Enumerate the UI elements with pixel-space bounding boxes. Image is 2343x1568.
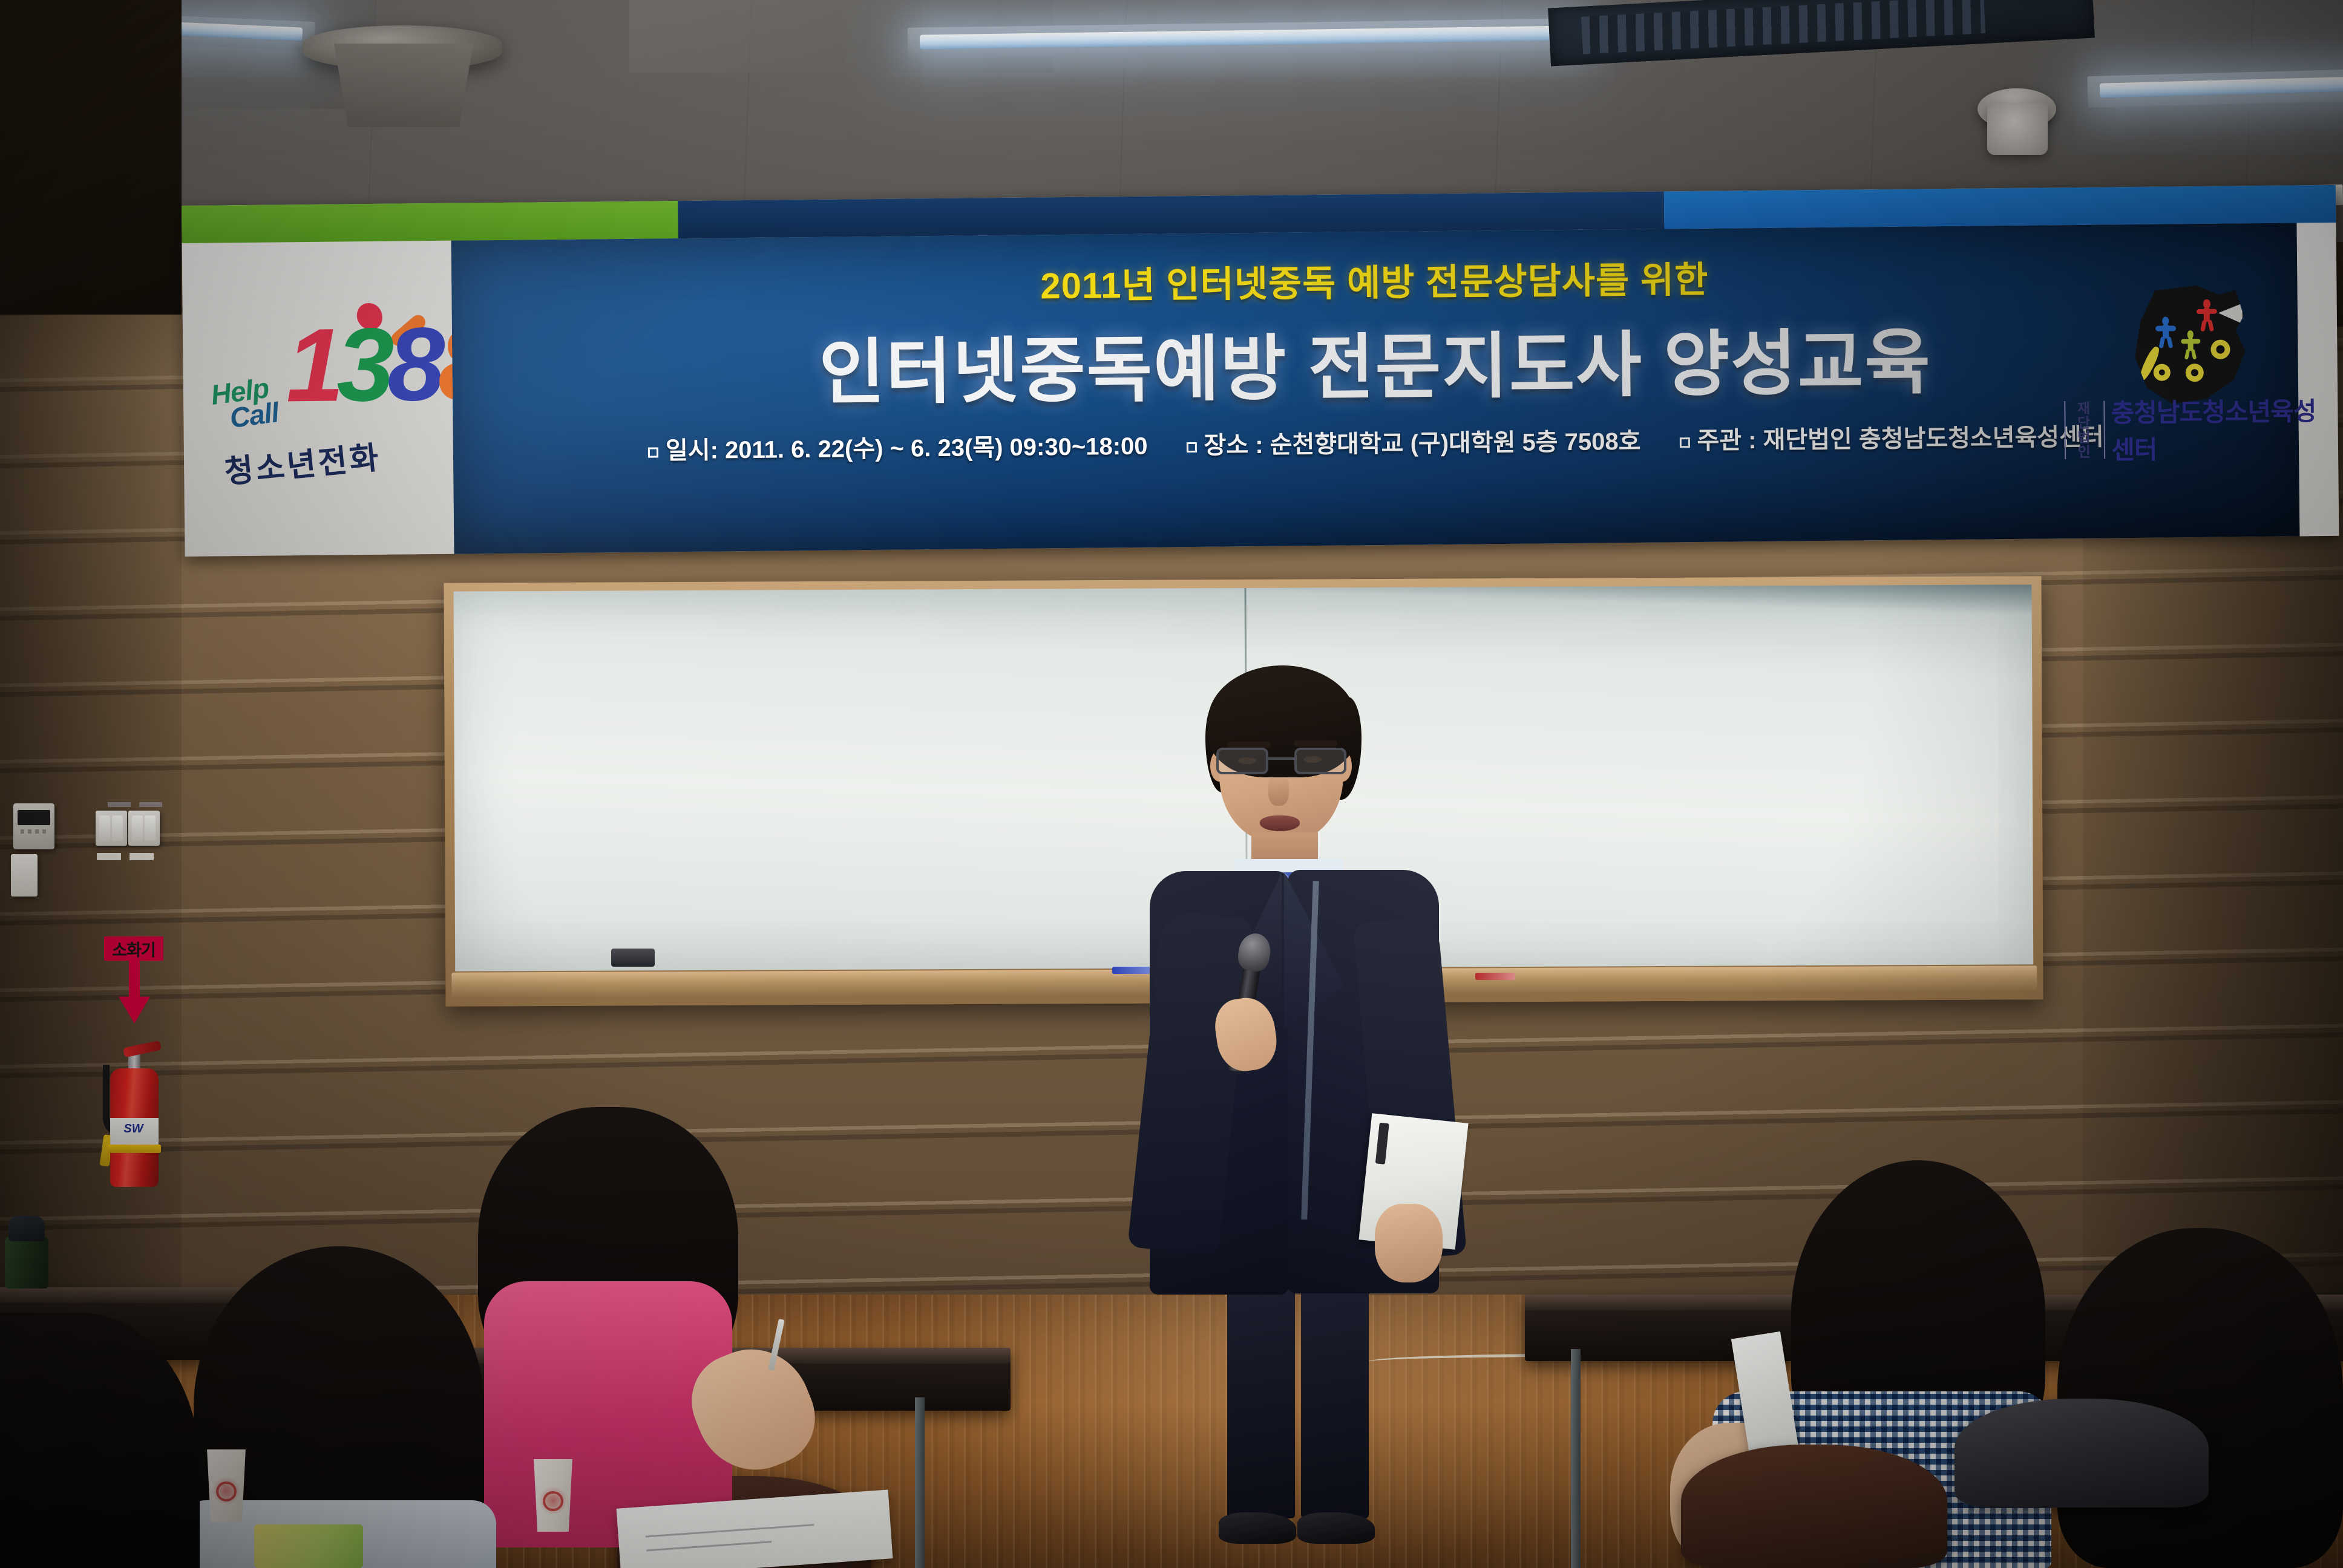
bullet-icon-venue [1186,442,1196,452]
light-switch-label-left [97,853,121,860]
emblem-figure-blue [2155,316,2176,348]
logo-helpcall-text: Help Call [209,374,280,433]
fire-extinguisher-icon[interactable]: SW [102,1033,166,1187]
banner-detail-organizer: 주관 : 재단법인 충청남도청소년육성센터 [1679,417,2104,457]
logo-digit-1: 1 [286,307,338,424]
emblem-ring-3 [2154,364,2171,381]
chungnam-map-emblem-icon [2129,285,2246,404]
attendee-far-right-hair [2057,1228,2343,1568]
light-switch-tag-right [139,802,162,807]
thermostat-display [18,810,50,826]
glasses-icon [1216,748,1346,776]
attendee-far-right [2057,1228,2343,1568]
logo-korean-text: 청소년전화 [222,432,382,492]
smoke-detector-body [1987,103,2048,155]
organizer-prefix: 재 단 법 인 [2064,400,2105,459]
chair-far-right[interactable] [1955,1399,2209,1508]
presenter-hand-right [1375,1204,1443,1282]
light-switch-label-right [129,853,154,860]
paper-clip-icon [1375,1123,1389,1165]
paper-cup-1[interactable] [203,1449,249,1522]
wall-outlet[interactable] [11,854,38,897]
red-marker-icon[interactable] [1475,973,1515,980]
presenter-legs [1205,1276,1387,1537]
emblem-ring-1 [2210,339,2230,359]
desk-leg-right [1571,1349,1581,1568]
presenter-shoe-left [1219,1512,1296,1544]
light-switch-panel-left[interactable] [96,811,127,846]
banner-stripe-blue [1664,185,2336,229]
thermostat-buttons[interactable] [21,829,47,834]
chair-right-attendee[interactable] [1681,1445,1947,1568]
colored-desk-material[interactable] [254,1524,363,1568]
organizer-prefix-line2: 법 인 [2070,430,2100,460]
fire-extinguisher-sign: 소화기 [104,936,163,961]
banner-stripe-green [182,201,678,243]
banner-detail-date: 일시: 2011. 6. 22(수) ~ 6. 23(목) 09:30~18:0… [648,426,1148,466]
organizer-prefix-line1: 재 단 [2069,400,2100,430]
organizer-logo: 재 단 법 인 충청남도청소년육성센터 [2063,276,2325,478]
logo-digit-3: 3 [336,307,388,423]
whiteboard-eraser-icon[interactable] [611,949,655,967]
organizer-name: 충청남도청소년육성센터 [2111,391,2325,466]
water-bottle[interactable] [5,1216,48,1289]
presenter-speaker [1126,659,1464,1518]
down-arrow-icon [119,959,150,1024]
banner-details-row: 일시: 2011. 6. 22(수) ~ 6. 23(목) 09:30~18:0… [453,415,2299,468]
banner-main-panel: 2011년 인터넷중독 예방 전문상담사를 위한 인터넷중독예방 전문지도사 양… [451,223,2300,554]
bullet-icon-date [648,447,658,457]
bullet-icon-organizer [1679,437,1689,448]
lecture-room-photo: 소화기 SW Help Call 1388 청소년전화 [0,0,2343,1568]
ceiling-speaker-body [334,44,473,127]
fire-extinguisher-sign-label: 소화기 [112,937,156,961]
organizer-logo-text: 재 단 법 인 충청남도청소년육성센터 [2064,391,2325,467]
emblem-notch [2218,303,2243,324]
air-conditioner-thermostat[interactable] [13,803,54,849]
logo-call-word: Call [228,399,280,431]
logo-digit-8a: 8 [387,306,439,423]
presenter-mouth [1260,815,1300,831]
light-switch-tag-left [108,802,131,807]
light-switch-panel-right[interactable] [128,811,160,846]
emblem-figure-red [2197,299,2217,331]
extinguisher-brand-label: SW [123,1122,143,1136]
desk-leg-left [915,1397,925,1568]
wall-corner-dark-left [0,0,182,315]
event-banner: Help Call 1388 청소년전화 2011년 인터넷중독 예방 전문상담… [182,185,2339,557]
presenter-shoe-right [1297,1512,1375,1544]
emblem-figure-green [2181,330,2200,359]
helpcall-1388-logo: Help Call 1388 청소년전화 [206,294,450,496]
emblem-ring-2 [2186,364,2204,382]
paper-cup-2[interactable] [530,1459,576,1532]
banner-detail-venue: 장소 : 순천향대학교 (구)대학원 5층 7508호 [1186,422,1640,461]
banner-title: 인터넷중독예방 전문지도사 양성교육 [452,300,2299,421]
